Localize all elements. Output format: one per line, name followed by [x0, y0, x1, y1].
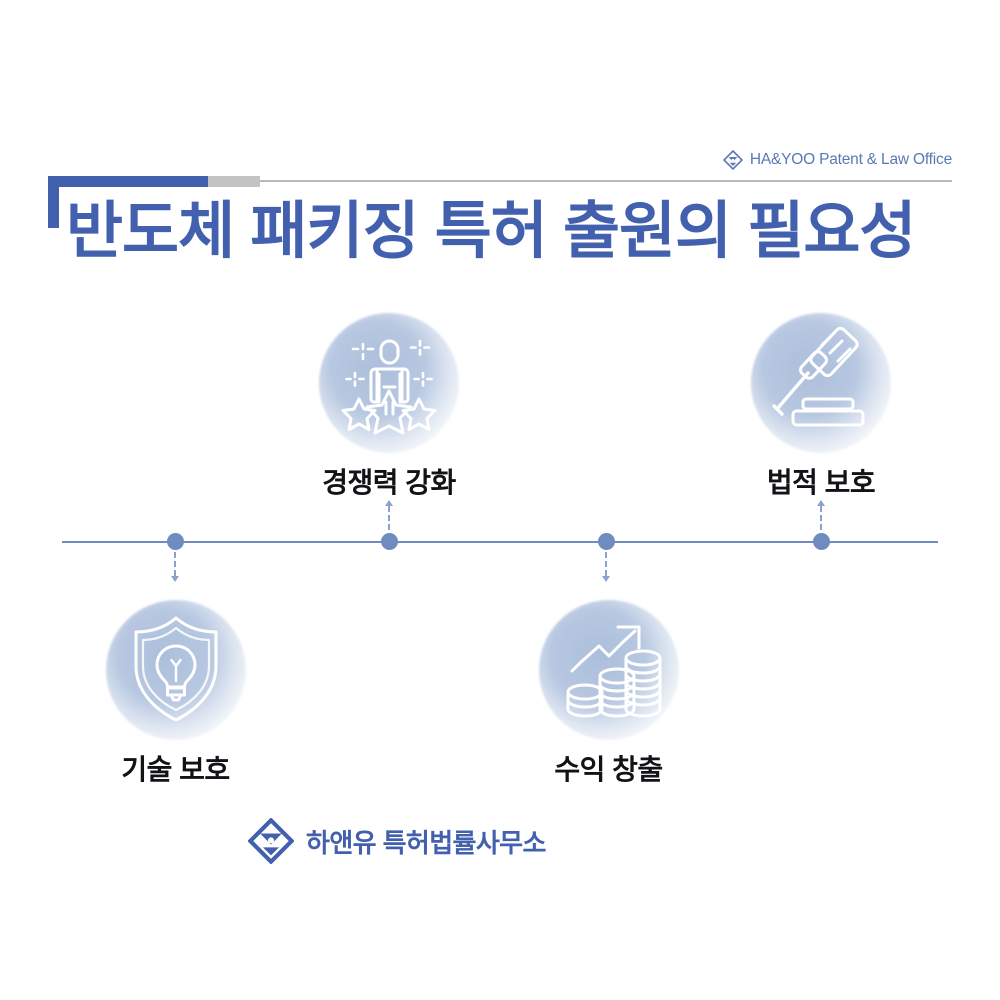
item-legal-protection[interactable]: 법적 보호	[711, 313, 931, 501]
timeline-node-legal-protection[interactable]	[813, 533, 830, 550]
coins-growth-arrow-icon	[539, 600, 679, 740]
timeline-node-tech-protection[interactable]	[167, 533, 184, 550]
connector-tech-protection	[174, 552, 176, 576]
connector-competitiveness	[388, 506, 390, 530]
item-label-legal-protection: 법적 보호	[711, 461, 931, 501]
shield-lightbulb-icon	[106, 600, 246, 740]
header-brand: HA&YOO Patent & Law Office	[723, 150, 952, 170]
icon-wrap-tech-protection	[106, 600, 246, 740]
timeline-node-revenue-generation[interactable]	[598, 533, 615, 550]
footer-logo-text: 하앤유 특허법률사무소	[306, 823, 546, 860]
diamond-logo-icon	[248, 818, 294, 864]
page-title: 반도체 패키징 특허 출원의 필요성	[66, 196, 915, 267]
icon-wrap-competitiveness	[319, 313, 459, 453]
icon-wrap-legal-protection	[751, 313, 891, 453]
accent-rule-gray	[208, 176, 260, 187]
icon-wrap-revenue-generation	[539, 600, 679, 740]
connector-legal-protection	[820, 506, 822, 530]
connector-arrow-tech-protection	[171, 576, 179, 582]
accent-rule-thin	[260, 180, 952, 182]
accent-rule-vertical	[48, 176, 59, 228]
item-label-tech-protection: 기술 보호	[63, 748, 288, 788]
slide-canvas: HA&YOO Patent & Law Office 반도체 패키징 특허 출원…	[0, 0, 1000, 1000]
gavel-icon	[751, 313, 891, 453]
connector-arrow-revenue-generation	[602, 576, 610, 582]
timeline-node-competitiveness[interactable]	[381, 533, 398, 550]
item-tech-protection[interactable]: 기술 보호	[63, 600, 288, 788]
accent-rule-blue	[48, 176, 208, 187]
diamond-logo-icon	[723, 150, 743, 170]
timeline-axis	[62, 541, 938, 543]
brand-name: HA&YOO Patent & Law Office	[750, 151, 952, 169]
person-with-stars-icon	[319, 313, 459, 453]
item-revenue-generation[interactable]: 수익 창출	[496, 600, 721, 788]
footer-logo: 하앤유 특허법률사무소	[248, 818, 546, 864]
item-competitiveness[interactable]: 경쟁력 강화	[279, 313, 499, 501]
item-label-revenue-generation: 수익 창출	[496, 748, 721, 788]
header-accent-rule	[48, 176, 952, 188]
connector-revenue-generation	[605, 552, 607, 576]
item-label-competitiveness: 경쟁력 강화	[279, 461, 499, 501]
